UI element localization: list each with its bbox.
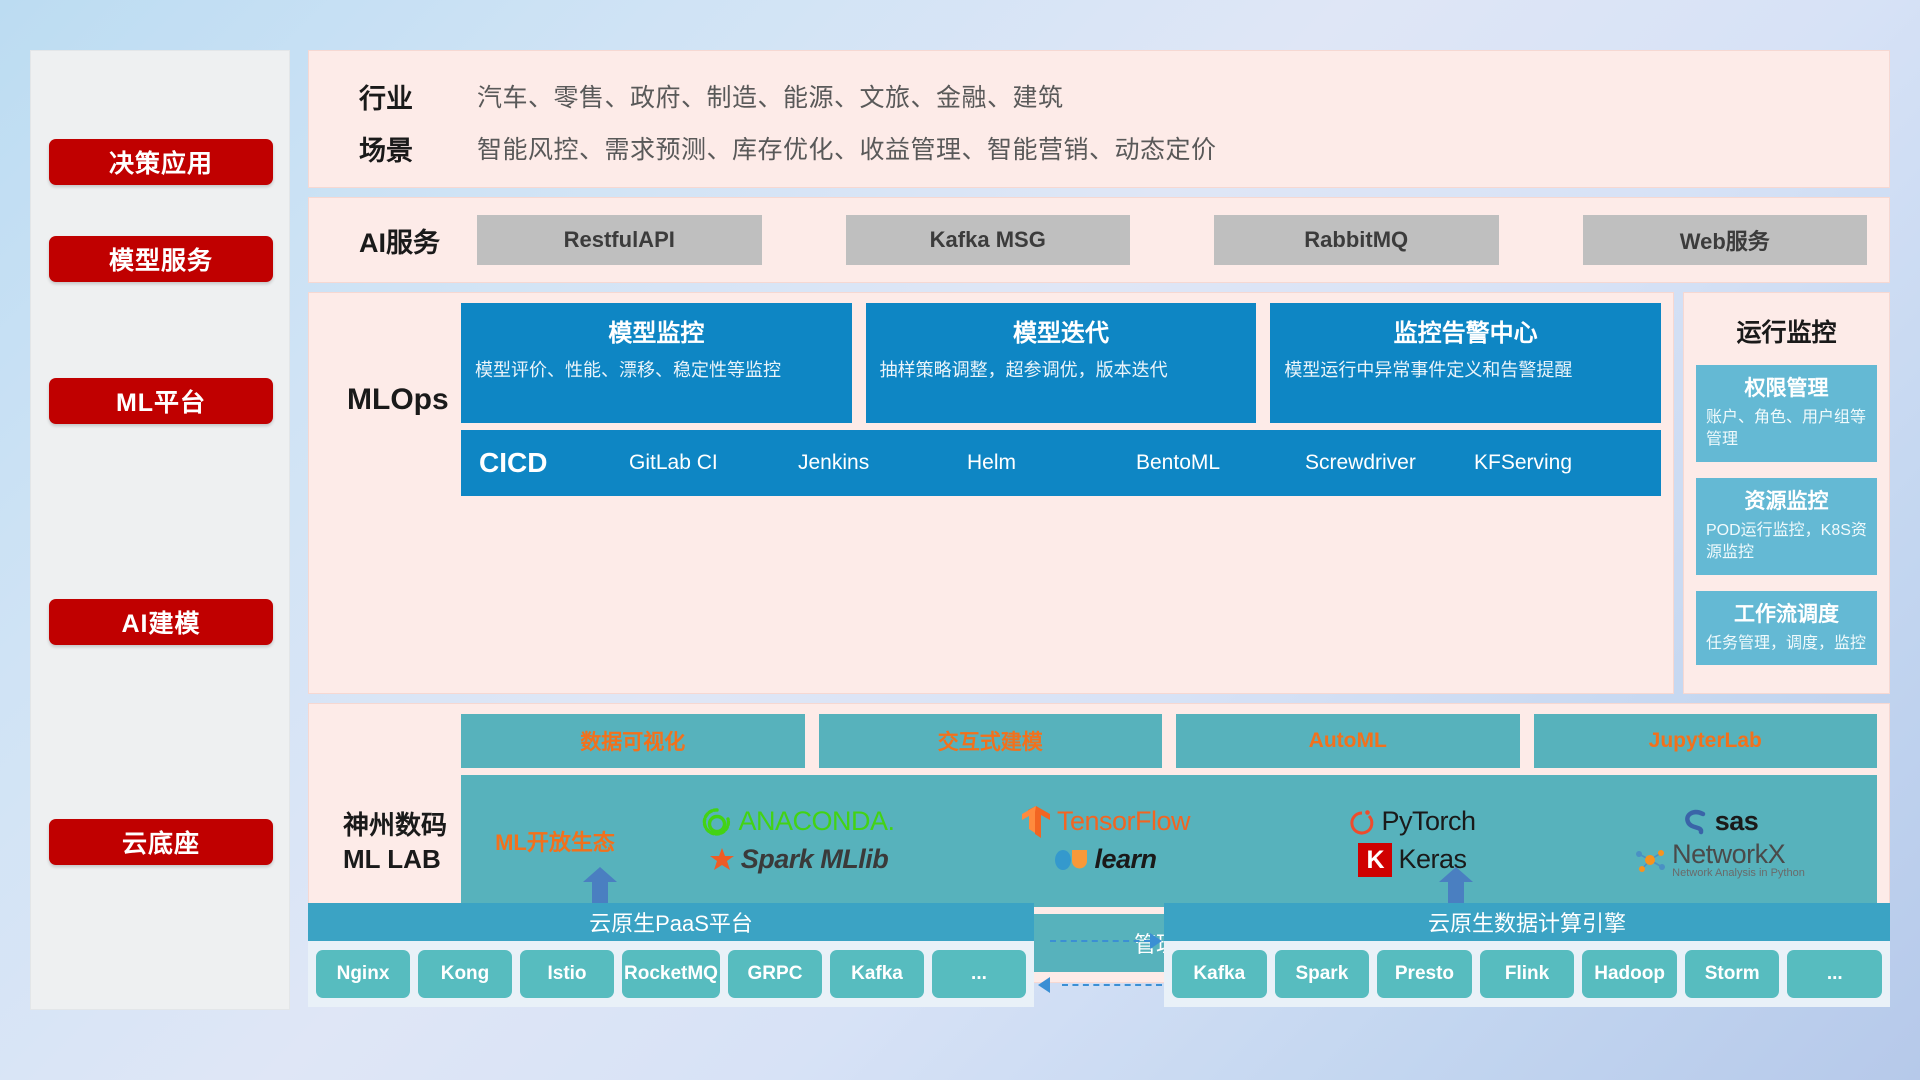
paas-chip-istio[interactable]: Istio [520,950,614,998]
card-title: 资源监控 [1706,485,1867,515]
decision-apps-band: 行业 汽车、零售、政府、制造、能源、文旅、金融、建筑 场景 智能风控、需求预测、… [308,50,1890,188]
ai-services-band: AI服务 RestfulAPI Kafka MSG RabbitMQ Web服务 [308,197,1890,283]
sas-mark-icon [1681,807,1709,837]
industry-values: 汽车、零售、政府、制造、能源、文旅、金融、建筑 [477,78,1064,114]
mlops-label: MLOps [321,303,461,496]
card-desc: 模型运行中异常事件定义和告警提醒 [1284,357,1647,383]
paas-chip-kong[interactable]: Kong [418,950,512,998]
lab-tab-automl[interactable]: AutoML [1176,714,1520,768]
data-chip-flink[interactable]: Flink [1480,950,1575,998]
card-title: 权限管理 [1706,372,1867,402]
lab-tab-data-visualization[interactable]: 数据可视化 [461,714,805,768]
pytorch-mark-icon [1349,807,1375,837]
pytorch-logo: PyTorch [1349,806,1475,837]
card-desc: 模型评价、性能、漂移、稳定性等监控 [475,357,838,383]
service-chip-restfulapi[interactable]: RestfulAPI [477,215,762,265]
anaconda-mark-icon [702,807,732,837]
card-desc: 任务管理，调度，监控 [1706,633,1867,655]
rail-badge-ml-platform[interactable]: ML平台 [49,378,273,424]
anaconda-wordmark: ANACONDA. [738,806,894,837]
scenario-values: 智能风控、需求预测、库存优化、收益管理、智能营销、动态定价 [477,130,1217,166]
mlops-card-model-iteration[interactable]: 模型迭代 抽样策略调整，超参调优，版本迭代 [866,303,1257,423]
networkx-logo: NetworkX Network Analysis in Python [1634,841,1805,879]
scikit-learn-wordmark: learn [1094,844,1156,875]
connector-paas-to-data [1050,940,1150,942]
cicd-item-screwdriver[interactable]: Screwdriver [1305,451,1474,475]
card-desc: 账户、角色、用户组等管理 [1706,407,1867,452]
lab-tab-jupyterlab[interactable]: JupyterLab [1534,714,1878,768]
connector-arrow-right-icon [1150,933,1162,949]
cicd-item-gitlab-ci[interactable]: GitLab CI [629,451,798,475]
paas-chip-more[interactable]: ... [932,950,1026,998]
mlops-card-model-monitoring[interactable]: 模型监控 模型评价、性能、漂移、稳定性等监控 [461,303,852,423]
keras-mark-icon: K [1358,843,1392,877]
runtime-monitor-rail: 运行监控 权限管理 账户、角色、用户组等管理 资源监控 POD运行监控，K8S资… [1683,292,1890,694]
cicd-item-helm[interactable]: Helm [967,451,1136,475]
runtime-monitor-title: 运行监控 [1696,313,1877,349]
paas-chip-rocketmq[interactable]: RocketMQ [622,950,720,998]
rail-badge-ai-modeling[interactable]: AI建模 [49,599,273,645]
service-chip-web[interactable]: Web服务 [1583,215,1868,265]
cloud-data-title: 云原生数据计算引擎 [1164,903,1890,941]
cicd-bar: CICD GitLab CI Jenkins Helm BentoML Scre… [461,430,1661,496]
data-chip-hadoop[interactable]: Hadoop [1582,950,1677,998]
arrow-paas-up-icon [583,867,617,903]
networkx-tagline: Network Analysis in Python [1672,868,1805,879]
card-title: 工作流调度 [1706,598,1867,628]
monitor-card-permissions[interactable]: 权限管理 账户、角色、用户组等管理 [1696,365,1877,462]
spark-mllib-wordmark: Spark MLlib [741,844,889,875]
data-chip-kafka[interactable]: Kafka [1172,950,1267,998]
networkx-mark-icon [1634,845,1666,875]
pytorch-wordmark: PyTorch [1381,806,1475,837]
cicd-item-jenkins[interactable]: Jenkins [798,451,967,475]
scikit-learn-mark-icon [1054,846,1088,874]
scikit-learn-logo: learn [1054,844,1156,875]
cicd-item-kfserving[interactable]: KFServing [1474,451,1643,475]
paas-chip-nginx[interactable]: Nginx [316,950,410,998]
spark-star-icon [709,847,735,873]
card-title: 模型迭代 [880,313,1243,348]
rail-badge-cloud-base[interactable]: 云底座 [49,819,273,865]
mlops-card-alert-center[interactable]: 监控告警中心 模型运行中异常事件定义和告警提醒 [1270,303,1661,423]
mlops-band: MLOps 模型监控 模型评价、性能、漂移、稳定性等监控 模型迭代 抽样策略调整… [308,292,1674,694]
architecture-diagram: 决策应用 模型服务 ML平台 AI建模 云底座 行业 汽车、零售、政府、制造、能… [0,0,1920,1080]
cloud-paas-block: 云原生PaaS平台 Nginx Kong Istio RocketMQ GRPC… [308,903,1034,1007]
card-title: 模型监控 [475,313,838,348]
connector-data-to-paas [1062,984,1162,986]
monitor-card-resources[interactable]: 资源监控 POD运行监控，K8S资源监控 [1696,478,1877,575]
cloud-paas-title: 云原生PaaS平台 [308,903,1034,941]
data-chip-more[interactable]: ... [1787,950,1882,998]
ai-service-label: AI服务 [327,221,477,260]
card-desc: POD运行监控，K8S资源监控 [1706,520,1867,565]
layer-rail: 决策应用 模型服务 ML平台 AI建模 云底座 [30,50,290,1010]
connector-arrow-left-icon [1038,977,1050,993]
scenario-label: 场景 [327,129,477,168]
paas-chip-kafka[interactable]: Kafka [830,950,924,998]
industry-row: 行业 汽车、零售、政府、制造、能源、文旅、金融、建筑 [327,70,1871,122]
monitor-card-workflow[interactable]: 工作流调度 任务管理，调度，监控 [1696,591,1877,665]
rail-badge-model-service[interactable]: 模型服务 [49,236,273,282]
spark-mllib-logo: Spark MLlib [709,844,889,875]
service-chip-kafka-msg[interactable]: Kafka MSG [846,215,1131,265]
data-chip-spark[interactable]: Spark [1275,950,1370,998]
paas-chip-grpc[interactable]: GRPC [728,950,822,998]
sas-logo: sas [1681,806,1759,837]
card-desc: 抽样策略调整，超参调优，版本迭代 [880,357,1243,383]
industry-label: 行业 [327,77,477,116]
ml-ecosystem-label: ML开放生态 [465,825,645,857]
data-chip-storm[interactable]: Storm [1685,950,1780,998]
tensorflow-logo: TensorFlow [1021,805,1190,839]
cloud-data-engine-block: 云原生数据计算引擎 Kafka Spark Presto Flink Hadoo… [1164,903,1890,1007]
service-chip-rabbitmq[interactable]: RabbitMQ [1214,215,1499,265]
tensorflow-mark-icon [1021,805,1051,839]
tensorflow-wordmark: TensorFlow [1057,806,1190,837]
networkx-wordmark: NetworkX [1672,841,1805,868]
data-chip-presto[interactable]: Presto [1377,950,1472,998]
lab-tab-interactive-modeling[interactable]: 交互式建模 [819,714,1163,768]
cicd-item-bentoml[interactable]: BentoML [1136,451,1305,475]
sas-wordmark: sas [1715,806,1759,837]
rail-badge-decision-apps[interactable]: 决策应用 [49,139,273,185]
arrow-data-up-icon [1439,867,1473,903]
anaconda-logo: ANACONDA. [702,806,894,837]
cloud-foundation-section: 云原生PaaS平台 Nginx Kong Istio RocketMQ GRPC… [308,880,1890,1045]
cicd-label: CICD [479,447,629,479]
card-title: 监控告警中心 [1284,313,1647,348]
scenario-row: 场景 智能风控、需求预测、库存优化、收益管理、智能营销、动态定价 [327,122,1871,174]
